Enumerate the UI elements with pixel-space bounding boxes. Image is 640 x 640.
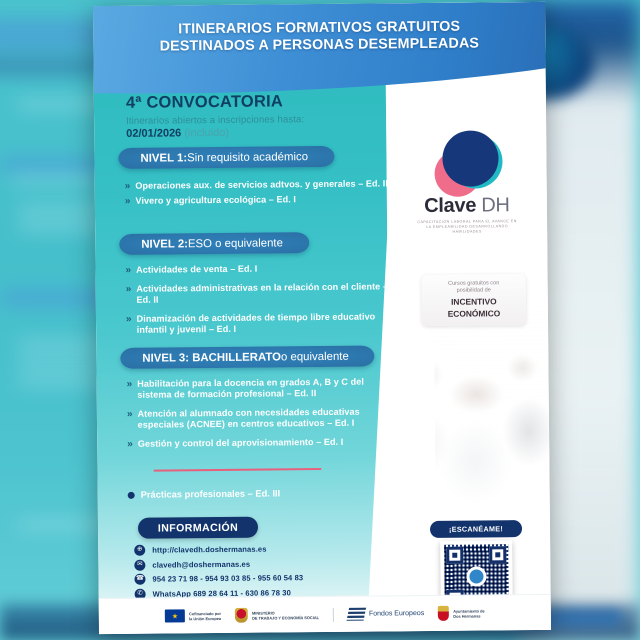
eu-flag-icon [165,609,185,622]
contact-email-text: clavedh@doshermanas.es [152,559,250,569]
list-item: » Atención al alumnado con necesidades e… [127,406,395,431]
level-pill-1: NIVEL 1: Sin requisito académico [118,146,334,169]
incentivo-line-2: posibilidad de [426,287,522,295]
level-1-items: » Operaciones aux. de servicios adtvos. … [125,178,393,211]
phone-icon: ☎ [134,574,145,585]
logo-word-sub: DH [481,194,510,216]
chevron-double-right-icon: » [126,314,132,325]
chevron-double-right-icon: » [125,265,131,276]
convocatoria-date-row: 02/01/2026 (incluido) [126,125,376,139]
logo-word-main: Clave [424,195,476,217]
contact-website[interactable]: ⊕ http://clavedh.doshermanas.es [134,543,303,556]
practicas-row: Prácticas profesionales – Ed. III [128,488,281,499]
level-pill-3: NIVEL 3: BACHILLERATO o equivalente [120,345,375,368]
chevron-double-right-icon: » [127,379,133,390]
chevron-double-right-icon: » [125,196,131,207]
list-item-label: Habilitación para la docencia en grados … [137,376,395,400]
scan-me-badge: ¡ESCANÉAME! [430,520,522,538]
list-item-label: Gestión y control del aprovisionamiento … [138,437,344,450]
list-item: » Gestión y control del aprovisionamient… [127,436,395,450]
globe-icon: ⊕ [134,545,145,556]
footer-divider [333,607,334,621]
incentivo-badge: Cursos gratuitos con posibilidad de INCE… [422,274,526,326]
level-3-items: » Habilitación para la docencia en grado… [127,376,396,458]
list-item: » Dinamización de actividades de tiempo … [126,311,394,336]
qr-finder-top-right [489,546,506,563]
logo-circle-navy [442,130,499,187]
list-item: » Actividades de venta – Ed. I [125,262,393,276]
envelope-icon: ✉ [134,559,145,570]
list-item-label: Vivero y agricultura ecológica – Ed. I [135,194,296,207]
clave-dh-logo: Clave DH CAPACITACIÓN LABORAL PARA EL AV… [398,128,535,235]
page-title: ITINERARIOS FORMATIVOS GRATUITOS DESTINA… [93,18,545,56]
level-3-light: o equivalente [281,350,349,363]
contact-email[interactable]: ✉ clavedh@doshermanas.es [134,558,303,571]
footer-logos: Cofinanciado por la Unión Europea MINIST… [99,594,551,634]
informacion-badge: INFORMACIÓN [138,517,258,539]
level-2-light: ESO o equivalente [188,237,283,250]
convocatoria-title: 4ª CONVOCATORIA [126,91,376,112]
practicas-label: Prácticas profesionales – Ed. III [141,488,281,499]
list-item-label: Actividades administrativas en la relaci… [136,281,394,305]
chevron-double-right-icon: » [127,439,133,450]
chevron-double-right-icon: » [126,284,132,295]
level-2-items: » Actividades de venta – Ed. I » Activid… [125,262,394,344]
list-item: » Vivero y agricultura ecológica – Ed. I [125,193,393,207]
contact-website-text: http://clavedh.doshermanas.es [152,545,266,555]
qr-finder-top-left [446,547,463,564]
list-item: » Habilitación para la docencia en grado… [127,376,395,401]
list-item-label: Dinamización de actividades de tiempo li… [137,311,395,335]
level-pill-2: NIVEL 2: ESO o equivalente [119,232,309,255]
background-blur-pill [10,175,100,185]
spain-crest-icon [235,608,248,623]
ayuntamiento-label: Ayuntamiento de Dos Hermanas [453,608,485,618]
logo-ministry: MINISTERIO DE TRABAJO Y ECONOMÍA SOCIAL [235,607,319,623]
fondos-europeos-icon [347,608,367,621]
convocatoria-block: 4ª CONVOCATORIA Itinerarios abiertos a i… [126,91,376,139]
logo-circles [398,128,535,195]
poster-card: ITINERARIOS FORMATIVOS GRATUITOS DESTINA… [93,2,551,634]
incentivo-highlight-2: ECONÓMICO [426,308,522,319]
logo-tagline: CAPACITACIÓN LABORAL PARA EL AVANCE EN L… [399,219,535,235]
level-1-light: Sin requisito académico [187,151,308,164]
convocatoria-date-note: (incluido) [184,127,229,139]
chevron-double-right-icon: » [127,409,133,420]
eu-label: Cofinanciado por la Unión Europea [189,610,221,620]
level-1-strong: NIVEL 1: [140,152,187,164]
logo-european-union: Cofinanciado por la Unión Europea [165,609,221,623]
bullet-dot-icon [128,491,135,498]
list-item: » Operaciones aux. de servicios adtvos. … [125,178,393,192]
contact-phone[interactable]: ☎ 954 23 71 98 - 954 93 03 85 - 955 60 5… [134,572,303,585]
contact-list: ⊕ http://clavedh.doshermanas.es ✉ claved… [134,543,303,603]
fondos-europeos-label: Fondos Europeos [369,610,424,618]
ministry-label: MINISTERIO DE TRABAJO Y ECONOMÍA SOCIAL [252,610,319,621]
logo-fondos-europeos: Fondos Europeos [348,607,424,621]
list-item-label: Operaciones aux. de servicios adtvos. y … [135,178,388,191]
logo-ayuntamiento: Ayuntamiento de Dos Hermanas [438,605,485,620]
convocatoria-date: 02/01/2026 [126,127,181,140]
ministry-label-line-2: DE TRABAJO Y ECONOMÍA SOCIAL [252,615,319,621]
level-3-strong: NIVEL 3: BACHILLERATO [142,351,281,364]
ayuntamiento-crest-icon [438,606,449,621]
incentivo-highlight-1: INCENTIVO [426,296,522,307]
level-2-strong: NIVEL 2: [141,238,188,250]
list-item-label: Actividades de venta – Ed. I [136,264,257,276]
eu-label-line-2: la Unión Europea [189,615,221,620]
ayuntamiento-label-line-2: Dos Hermanas [453,613,480,618]
list-item: » Actividades administrativas en la rela… [126,281,394,306]
chevron-double-right-icon: » [125,181,131,192]
logo-wordmark: Clave DH [399,194,535,218]
contact-phone-text: 954 23 71 98 - 954 93 03 85 - 955 60 54 … [152,573,303,583]
list-item-label: Atención al alumnado con necesidades edu… [137,406,395,430]
